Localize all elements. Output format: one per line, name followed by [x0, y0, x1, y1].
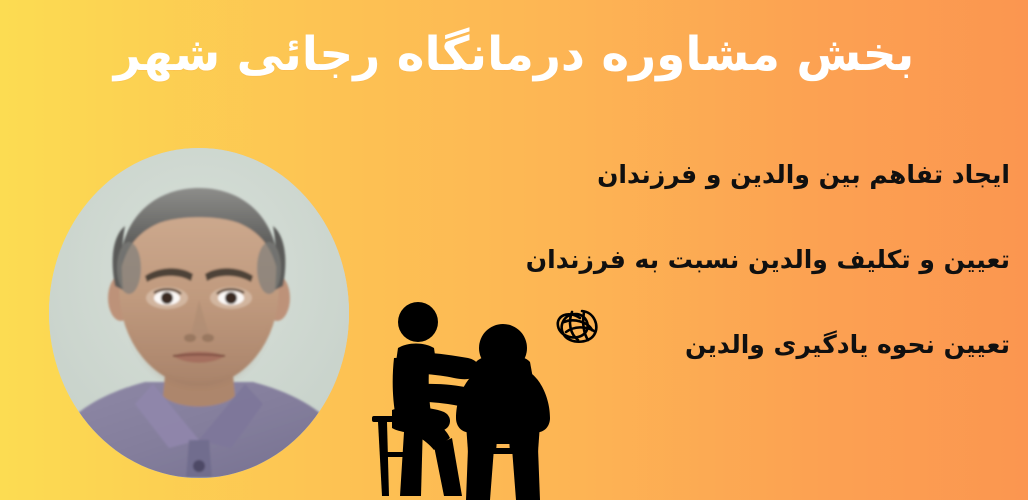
poster-canvas: بخش مشاوره درمانگاه رجائی شهر [0, 0, 1028, 500]
list-item: ایجاد تفاهم بین والدین و فرزندان [370, 160, 1010, 190]
list-item: تعیین نحوه یادگیری والدین [370, 330, 1010, 360]
list-item: تعیین و تکلیف والدین نسبت به فرزندان [370, 245, 1010, 275]
portrait-photo [49, 148, 349, 478]
page-title: بخش مشاوره درمانگاه رجائی شهر [40, 26, 988, 83]
points-list: ایجاد تفاهم بین والدین و فرزندان تعیین و… [370, 160, 1010, 360]
avatar [49, 148, 349, 478]
